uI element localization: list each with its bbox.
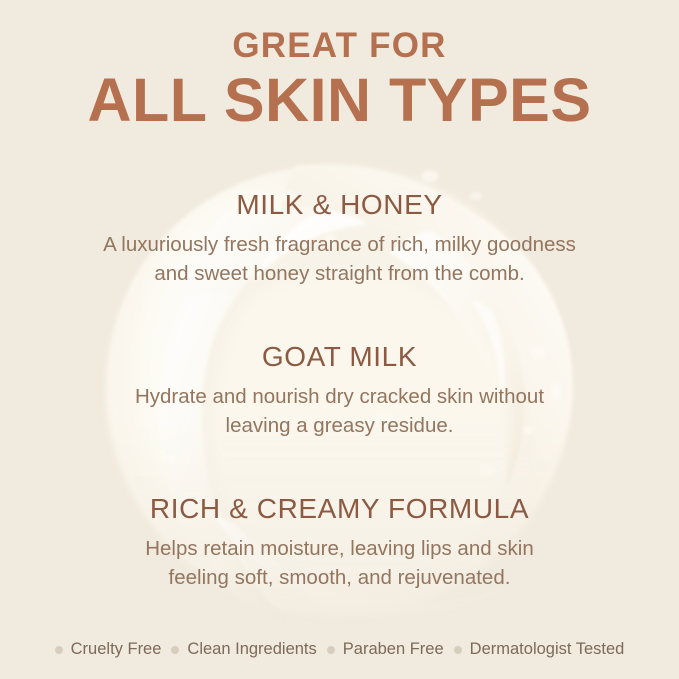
feature-description-line: A luxuriously fresh fragrance of rich, m… [40,230,640,259]
bullet-dot-icon [171,646,179,654]
claim-label: Paraben Free [343,640,444,659]
bullet-dot-icon [454,646,462,654]
claim-cruelty-free: Cruelty Free [55,640,162,659]
feature-title: RICH & CREAMY FORMULA [0,494,679,525]
headline-line-1: GREAT FOR [0,28,679,63]
feature-description-line: Helps retain moisture, leaving lips and … [40,534,640,563]
claim-label: Cruelty Free [71,640,162,659]
feature-rich-and-creamy-formula: RICH & CREAMY FORMULA Helps retain moist… [0,494,679,592]
content-stack: GREAT FOR ALL SKIN TYPES MILK & HONEY A … [0,0,679,679]
page-title: GREAT FOR ALL SKIN TYPES [0,28,679,132]
headline-line-2: ALL SKIN TYPES [0,69,679,132]
feature-description-line: Hydrate and nourish dry cracked skin wit… [40,382,640,411]
feature-title: GOAT MILK [0,342,679,373]
feature-description: A luxuriously fresh fragrance of rich, m… [40,230,640,288]
claim-clean-ingredients: Clean Ingredients [161,640,316,659]
bullet-dot-icon [55,646,63,654]
claims-bar: Cruelty Free Clean Ingredients Paraben F… [0,640,679,659]
feature-title: MILK & HONEY [0,190,679,221]
skin-types-infographic: GREAT FOR ALL SKIN TYPES MILK & HONEY A … [0,0,679,679]
claim-paraben-free: Paraben Free [317,640,444,659]
feature-list: MILK & HONEY A luxuriously fresh fragran… [0,190,679,592]
feature-description: Helps retain moisture, leaving lips and … [40,534,640,592]
feature-milk-and-honey: MILK & HONEY A luxuriously fresh fragran… [0,190,679,288]
claim-label: Clean Ingredients [187,640,316,659]
claim-dermatologist-tested: Dermatologist Tested [444,640,625,659]
feature-goat-milk: GOAT MILK Hydrate and nourish dry cracke… [0,342,679,440]
feature-description-line: and sweet honey straight from the comb. [40,259,640,288]
feature-description: Hydrate and nourish dry cracked skin wit… [40,382,640,440]
feature-description-line: feeling soft, smooth, and rejuvenated. [40,563,640,592]
bullet-dot-icon [327,646,335,654]
feature-description-line: leaving a greasy residue. [40,411,640,440]
claim-label: Dermatologist Tested [470,640,625,659]
